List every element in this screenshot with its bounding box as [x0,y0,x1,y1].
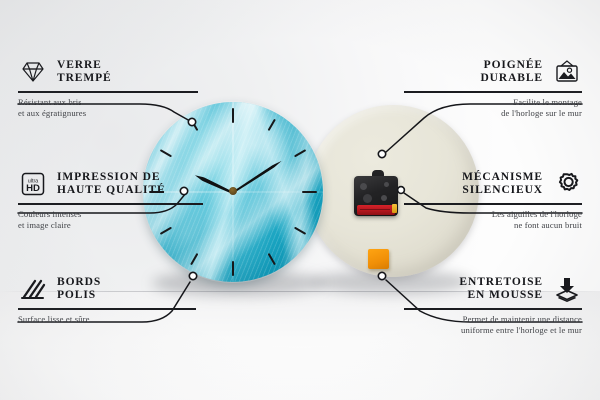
product-infographic: VERRE TREMPÉ Résistant aux bris et aux é… [0,0,600,400]
vignette-overlay [0,0,600,400]
